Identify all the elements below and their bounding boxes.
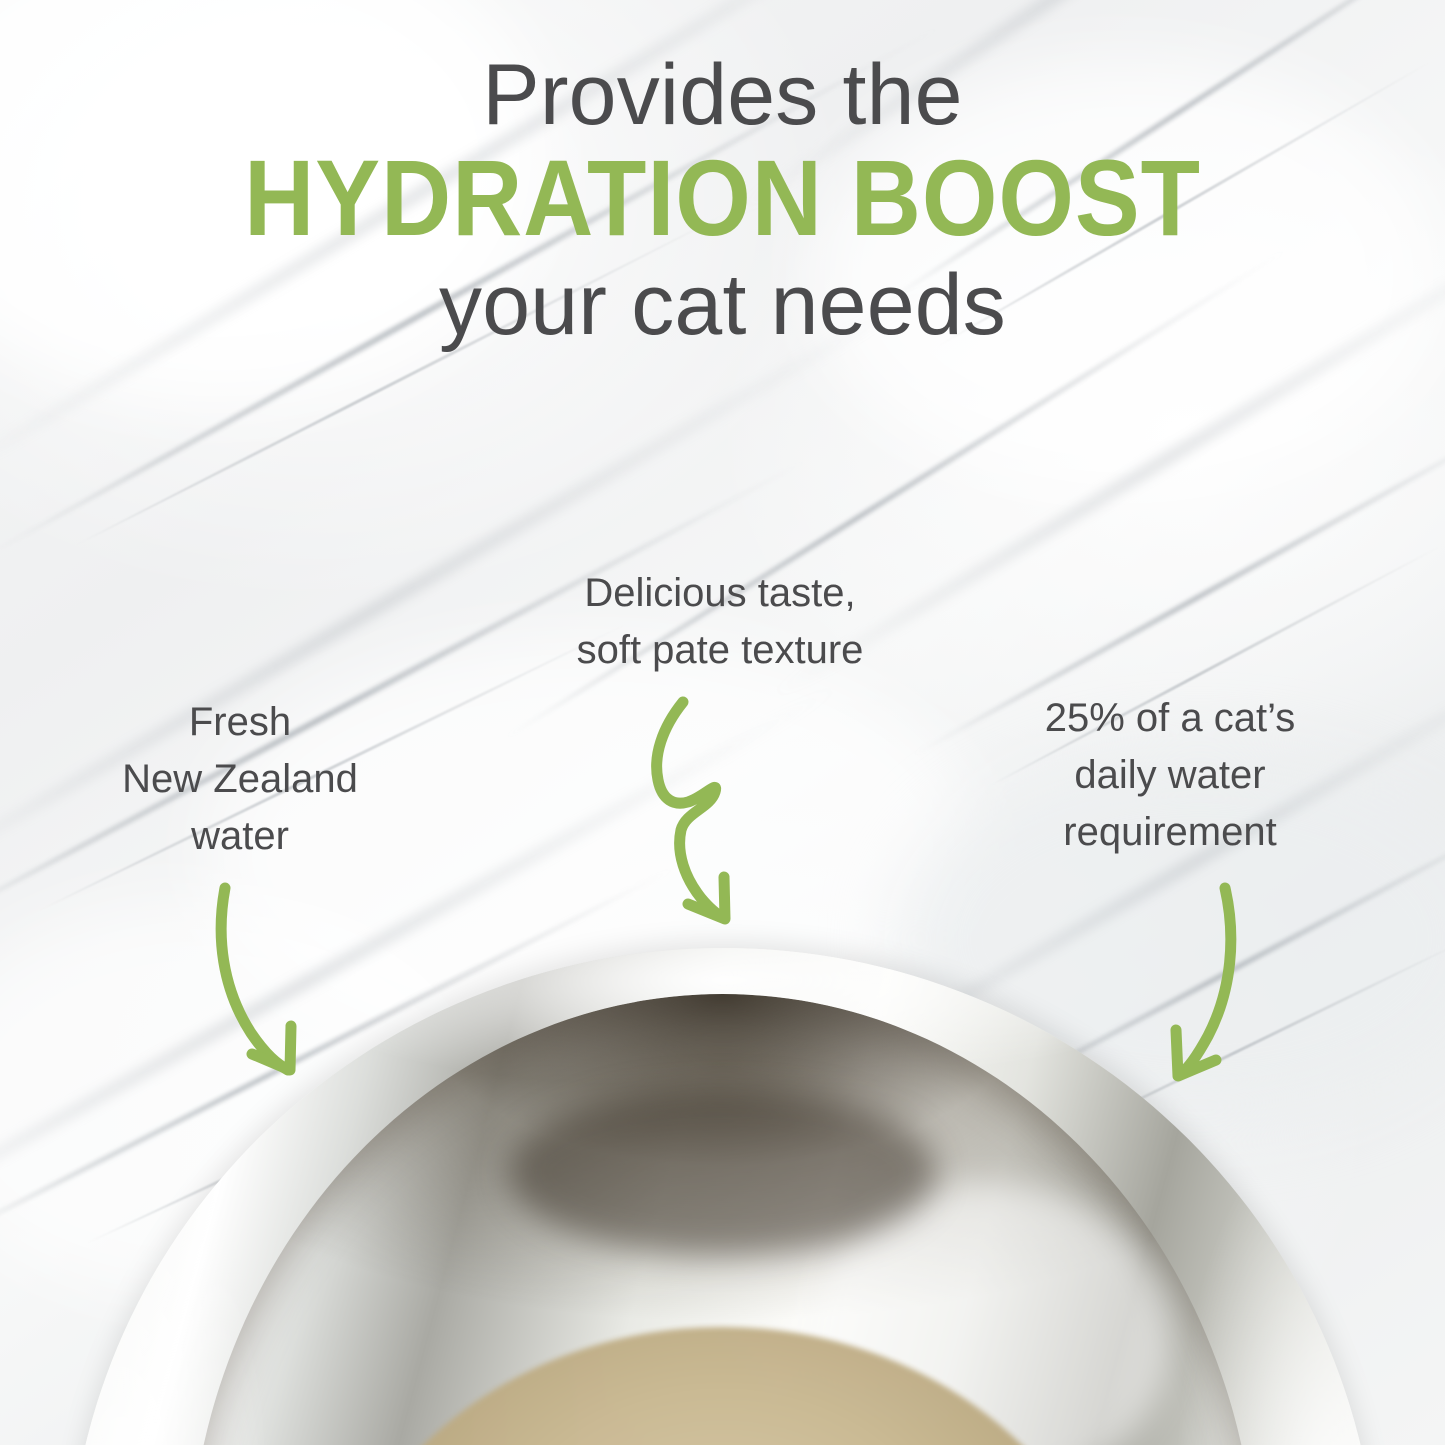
headline-line-1: Provides the: [0, 52, 1445, 138]
callout-right-line-3: requirement: [980, 804, 1360, 861]
bowl-interior: [188, 994, 1257, 1445]
callout-right-line-1: 25% of a cat’s: [980, 690, 1360, 747]
callout-25-percent-daily-water: 25% of a cat’s daily water requirement: [980, 690, 1360, 860]
promo-image: Provides the HYDRATION BOOST your cat ne…: [0, 0, 1445, 1445]
looped-curly-arrow-down-icon: [636, 690, 766, 930]
curved-arrow-down-left-icon: [1152, 878, 1287, 1108]
callout-left-line-3: water: [60, 808, 420, 865]
curved-arrow-down-right-icon: [178, 878, 338, 1093]
callout-delicious-taste-soft-pate: Delicious taste, soft pate texture: [490, 565, 950, 679]
headline-line-2-accent: HYDRATION BOOST: [72, 144, 1373, 252]
callout-left-line-1: Fresh: [60, 694, 420, 751]
callout-fresh-new-zealand-water: Fresh New Zealand water: [60, 694, 420, 864]
callout-center-line-1: Delicious taste,: [490, 565, 950, 622]
headline-line-3: your cat needs: [0, 262, 1445, 348]
callout-center-line-2: soft pate texture: [490, 622, 950, 679]
callout-left-line-2: New Zealand: [60, 751, 420, 808]
page-title: Provides the HYDRATION BOOST your cat ne…: [0, 52, 1445, 348]
callout-right-line-2: daily water: [980, 747, 1360, 804]
